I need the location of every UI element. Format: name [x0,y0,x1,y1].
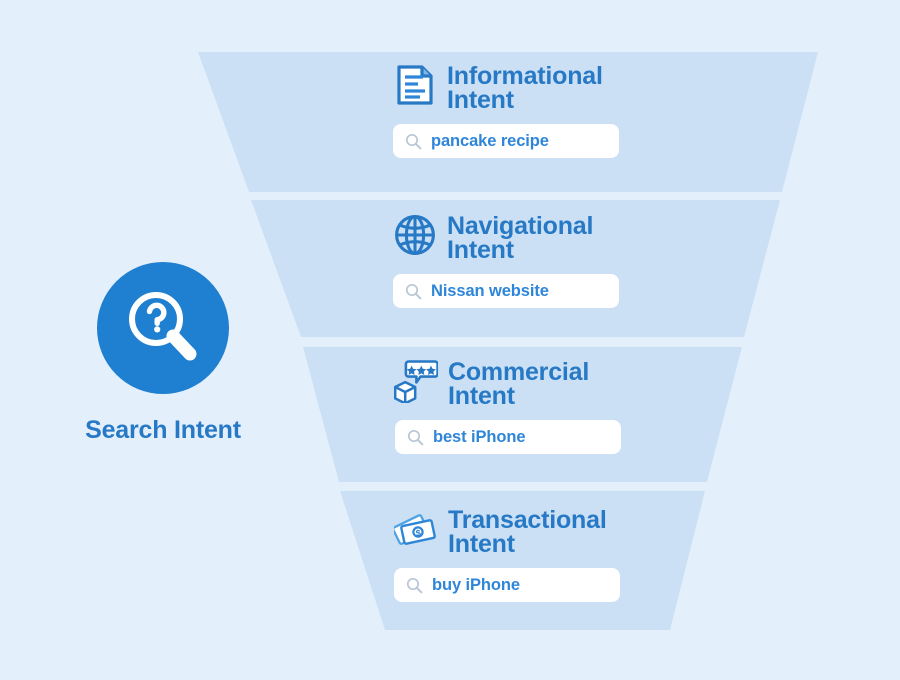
section-title: Transactional Intent [448,506,607,556]
search-icon [407,429,424,446]
magnifier-question-icon [119,284,207,372]
funnel-section-commercial: Commercial Intent best iPhone [394,358,694,454]
section-title: Navigational Intent [447,212,593,262]
funnel-section-transactional: $ $ Transactional Intent [394,506,694,602]
banknotes-icon: $ $ [394,506,438,552]
section-title-line2: Intent [448,384,589,408]
section-title-line2: Intent [447,238,593,262]
section-title: Informational Intent [447,62,603,112]
section-title: Commercial Intent [448,358,589,408]
search-query-box[interactable]: Nissan website [393,274,619,308]
document-icon [393,62,437,108]
section-title-line2: Intent [448,532,607,556]
globe-icon [393,212,437,258]
search-query-box[interactable]: buy iPhone [394,568,620,602]
search-query-text: best iPhone [433,428,525,447]
search-icon [405,133,422,150]
funnel-section-navigational: Navigational Intent Nissan website [393,212,693,308]
section-title-line2: Intent [447,88,603,112]
search-icon [406,577,423,594]
brand-label: Search Intent [82,416,244,445]
section-header: Commercial Intent [394,358,694,408]
search-icon [405,283,422,300]
search-intent-badge [97,262,229,394]
funnel-section-informational: Informational Intent pancake recipe [393,62,693,158]
search-query-text: pancake recipe [431,132,549,151]
section-header: $ $ Transactional Intent [394,506,694,556]
search-query-text: buy iPhone [432,576,520,595]
search-query-box[interactable]: pancake recipe [393,124,619,158]
section-header: Navigational Intent [393,212,693,262]
brand-block: Search Intent [82,262,244,445]
search-query-text: Nissan website [431,282,549,301]
infographic-canvas: Search Intent Informational Intent [0,0,900,680]
box-review-icon [394,358,438,404]
section-header: Informational Intent [393,62,693,112]
search-query-box[interactable]: best iPhone [395,420,621,454]
